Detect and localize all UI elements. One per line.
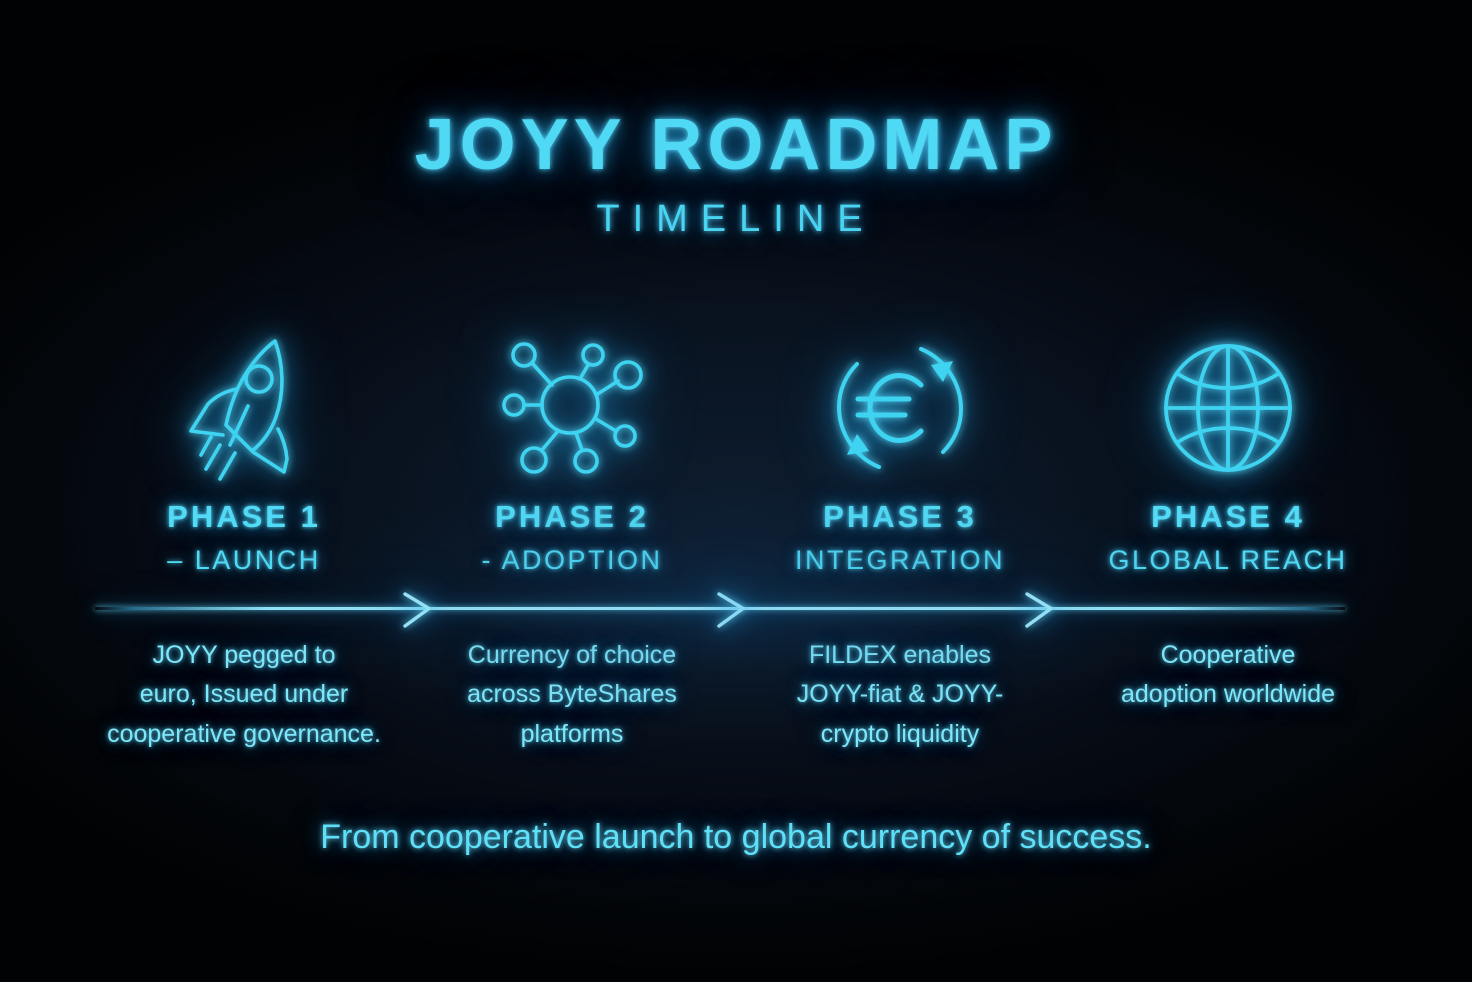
phase-title: PHASE 3 — [736, 499, 1064, 535]
timeline-arrowhead-1 — [399, 592, 443, 633]
footer-tagline: From cooperative launch to global curren… — [0, 818, 1472, 857]
phase-description: FILDEX enables JOYY-fiat & JOYY- crypto … — [736, 636, 1064, 754]
phase-title: PHASE 1 — [80, 499, 408, 535]
phase-subtitle: - ADOPTION — [408, 545, 736, 576]
phase-item-1: PHASE 1 – LAUNCH — [80, 330, 408, 576]
timeline-line — [95, 607, 1345, 610]
phase-item-4: PHASE 4 GLOBAL REACH — [1064, 330, 1392, 576]
phase-description: JOYY pegged to euro, Issued under cooper… — [80, 636, 408, 754]
page-subtitle: TIMELINE — [0, 198, 1472, 241]
rocket-icon — [80, 330, 408, 485]
phase-title: PHASE 2 — [408, 499, 736, 535]
phase-list: PHASE 1 – LAUNCH — [80, 330, 1392, 576]
roadmap-infographic: JOYY ROADMAP TIMELINE PHASE 1 – LAUNCH — [0, 0, 1472, 982]
phase-item-2: PHASE 2 - ADOPTION — [408, 330, 736, 576]
phase-description: Currency of choice across ByteShares pla… — [408, 636, 736, 754]
page-title: JOYY ROADMAP — [0, 108, 1472, 184]
network-nodes-icon — [408, 330, 736, 485]
globe-icon — [1064, 330, 1392, 485]
phase-description-list: JOYY pegged to euro, Issued under cooper… — [80, 636, 1392, 754]
euro-exchange-icon — [736, 330, 1064, 485]
phase-subtitle: INTEGRATION — [736, 545, 1064, 576]
phase-subtitle: GLOBAL REACH — [1064, 545, 1392, 576]
timeline-arrowhead-3 — [1021, 592, 1065, 633]
phase-item-3: PHASE 3 INTEGRATION — [736, 330, 1064, 576]
phase-subtitle: – LAUNCH — [80, 545, 408, 576]
header: JOYY ROADMAP TIMELINE — [0, 108, 1472, 241]
phase-title: PHASE 4 — [1064, 499, 1392, 535]
timeline-arrowhead-2 — [713, 592, 757, 633]
phase-description: Cooperative adoption worldwide — [1064, 636, 1392, 754]
timeline-axis — [0, 592, 1472, 628]
